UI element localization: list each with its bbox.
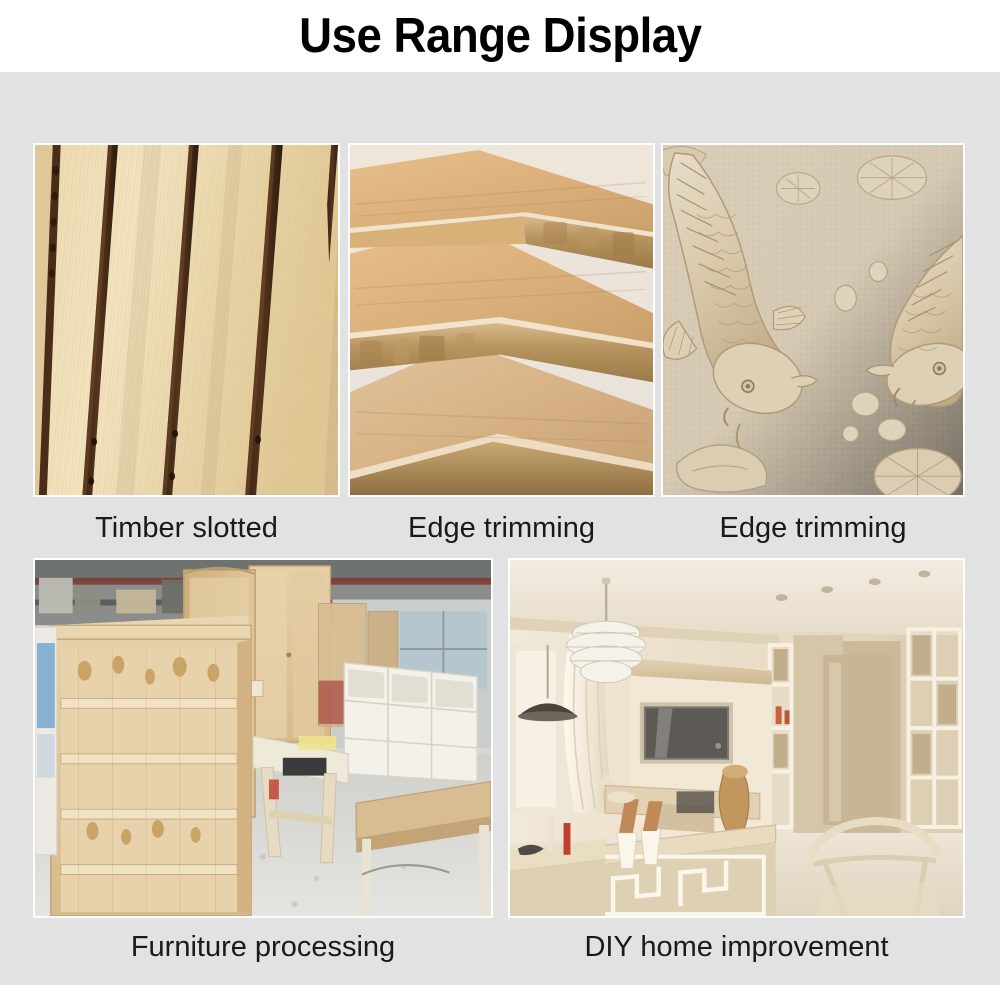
caption-edge-trimming-relief: Edge trimming (661, 511, 965, 545)
gallery-tile-diy-home-improvement[interactable] (508, 558, 965, 918)
page-title: Use Range Display (299, 10, 701, 62)
panel-stack-illustration (350, 145, 653, 495)
timber-slotted-illustration (35, 145, 338, 495)
caption-edge-trimming-panels: Edge trimming (348, 511, 655, 545)
footer-band (0, 985, 1000, 1000)
gallery-tile-furniture-processing[interactable] (33, 558, 493, 918)
workshop-illustration (35, 560, 491, 916)
caption-timber-slotted: Timber slotted (33, 511, 340, 545)
gallery-tile-timber-slotted[interactable] (33, 143, 340, 497)
header-band: Use Range Display (0, 0, 1000, 72)
interior-illustration (510, 560, 963, 916)
caption-diy-home-improvement: DIY home improvement (508, 930, 965, 964)
koi-relief-illustration (663, 145, 963, 495)
caption-furniture-processing: Furniture processing (33, 930, 493, 964)
use-range-display-page: Use Range Display (0, 0, 1000, 1000)
gallery-tile-edge-trimming-relief[interactable] (661, 143, 965, 497)
gallery-tile-edge-trimming-panels[interactable] (348, 143, 655, 497)
